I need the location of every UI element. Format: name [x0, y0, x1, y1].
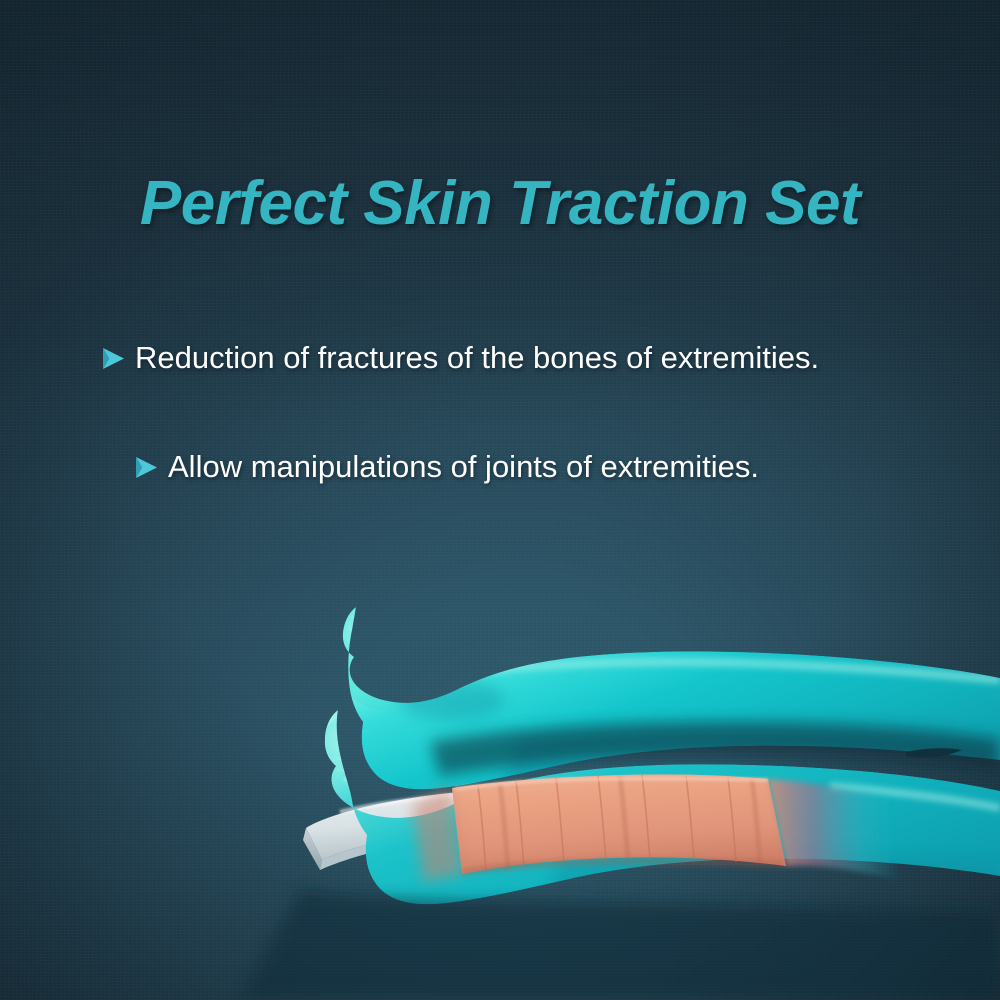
slide-canvas: Perfect Skin Traction Set Reduction of f…	[0, 0, 1000, 1000]
list-item: Allow manipulations of joints of extremi…	[133, 449, 1000, 486]
list-item-label: Allow manipulations of joints of extremi…	[168, 449, 759, 486]
list-item-label: Reduction of fractures of the bones of e…	[135, 340, 819, 377]
bullet-list: Reduction of fractures of the bones of e…	[0, 340, 1000, 485]
list-item: Reduction of fractures of the bones of e…	[100, 340, 1000, 377]
arrow-bullet-icon	[133, 451, 159, 485]
arrow-bullet-icon	[100, 342, 126, 376]
page-title: Perfect Skin Traction Set	[0, 168, 1000, 239]
text-content-layer: Perfect Skin Traction Set Reduction of f…	[0, 0, 1000, 1000]
